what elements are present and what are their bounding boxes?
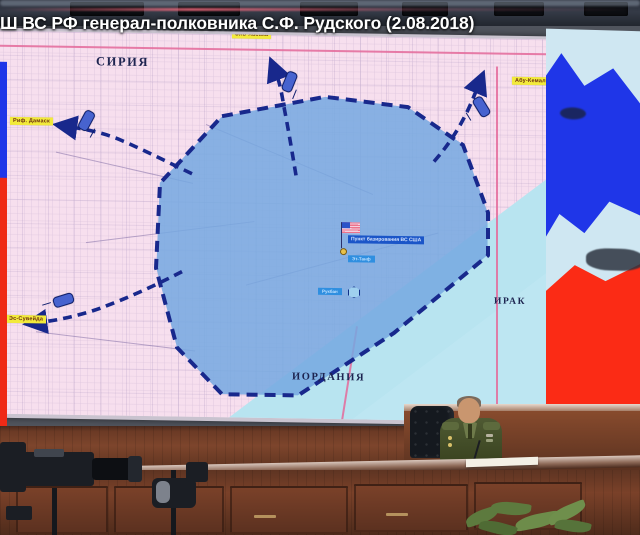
label-us-base: Пункт базирования ВС США (348, 235, 424, 244)
leaf (490, 499, 531, 517)
base-point-marker (340, 248, 347, 255)
map-canvas: Пункт базирования ВС США Эт-Танф Рукбан … (0, 31, 546, 423)
camera-lens (156, 481, 170, 503)
projection-screen: Пункт базирования ВС США Эт-Танф Рукбан … (0, 28, 550, 427)
leaf (554, 516, 592, 535)
uniform-ribbon (486, 434, 493, 437)
camera-hood (128, 456, 142, 482)
label-rif-dimashk: Риф. Дамаск (10, 117, 53, 126)
shoulder-board (442, 422, 459, 430)
screenshot-root: Пункт базирования ВС США Эт-Танф Рукбан … (0, 0, 640, 535)
label-rukban: Рукбан (318, 288, 342, 295)
movement-arrows-layer (0, 31, 546, 423)
secondary-dark-patch (560, 107, 586, 120)
camera-rear (0, 442, 26, 492)
speaker-head (458, 398, 480, 423)
country-label-iraq: ИРАК (494, 296, 526, 307)
drawer-handle (386, 513, 408, 516)
camera-top-handle (34, 449, 64, 457)
country-label-jordan: ИОРДАНИЯ (292, 371, 365, 383)
secondary-display (546, 29, 640, 430)
left-display-red-edge (0, 178, 7, 436)
shoulder-board (483, 422, 500, 430)
arrow-north-right (434, 86, 478, 163)
label-at-tanf: Эт-Танф (348, 255, 375, 262)
arrow-west-upper (70, 127, 192, 174)
potted-plant (455, 498, 605, 535)
left-display-blue-edge (0, 62, 7, 180)
panel-section (230, 486, 348, 534)
necktie (468, 424, 472, 439)
uniform-insignia (448, 443, 452, 447)
uniform-insignia (448, 436, 452, 440)
camera-lens (92, 458, 132, 480)
label-es-suwayda: Эс-Сувейда (6, 315, 46, 324)
drawer-handle (254, 515, 276, 518)
tripod-base (6, 506, 32, 520)
flag-canton (342, 222, 350, 228)
panel-section (354, 484, 468, 532)
camera-tripod (52, 488, 57, 535)
label-abu-kemal: Абу-Кемаль (512, 77, 546, 86)
video-camera-icon (18, 452, 94, 486)
country-label-syria: СИРИЯ (96, 54, 149, 70)
caption-overlay: Ш ВС РФ генерал-полковника С.Ф. Рудского… (0, 10, 640, 36)
uniform-ribbon (486, 439, 493, 442)
us-flag-icon (342, 222, 360, 233)
ceiling-glow (0, 0, 640, 6)
camera-head (186, 462, 208, 482)
secondary-dark-patch (586, 248, 640, 272)
